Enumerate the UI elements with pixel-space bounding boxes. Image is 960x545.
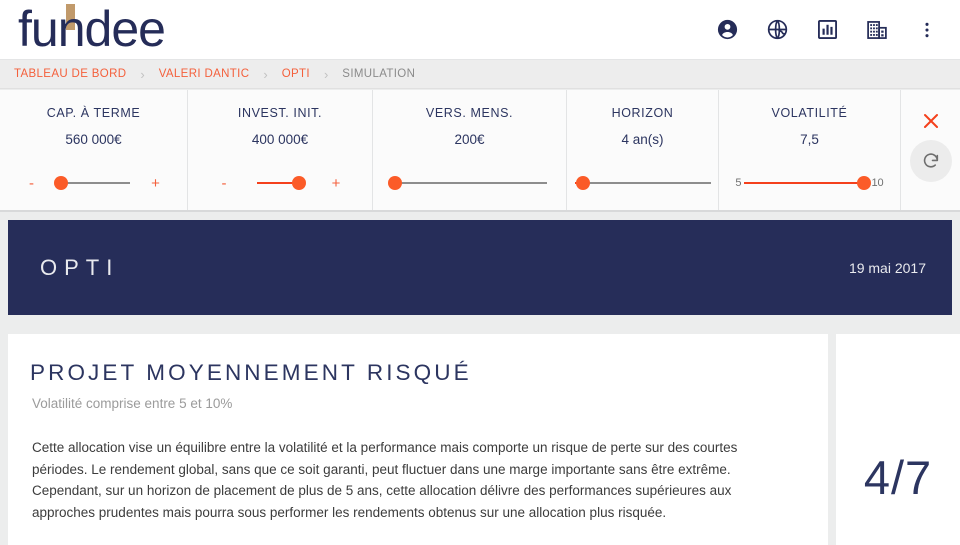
banner-title: OPTI — [40, 255, 119, 281]
page-title: PROJET MOYENNEMENT RISQUÉ — [30, 360, 798, 386]
breadcrumb-item-dashboard[interactable]: TABLEAU DE BORD — [14, 68, 126, 80]
slider-max-label: 10 — [868, 177, 886, 189]
close-icon[interactable] — [921, 111, 941, 136]
building-icon[interactable] — [852, 5, 902, 55]
slider-track — [575, 182, 711, 184]
more-vert-icon[interactable] — [902, 5, 952, 55]
increment-button[interactable]: + — [147, 176, 165, 191]
horizon-slider[interactable] — [575, 173, 711, 193]
param-label: INVEST. INIT. — [188, 106, 372, 120]
breadcrumb-item-simulation: SIMULATION — [342, 68, 415, 80]
breadcrumb-item-client[interactable]: VALERI DANTIC — [159, 68, 250, 80]
param-slider-row: - + — [0, 168, 187, 198]
cap-a-terme-slider[interactable] — [58, 173, 130, 193]
param-label: CAP. À TERME — [0, 106, 187, 120]
banner-date: 19 mai 2017 — [849, 260, 926, 276]
param-card-horizon: HORIZON 4 an(s) — [567, 90, 719, 210]
param-card-vers-mens: VERS. MENS. 200€ — [373, 90, 567, 210]
param-slider-row: - + — [188, 168, 372, 198]
decrement-button[interactable]: - — [23, 176, 41, 191]
slider-thumb[interactable] — [292, 176, 306, 190]
increment-button[interactable]: + — [327, 176, 345, 191]
parameter-actions — [901, 90, 960, 210]
param-slider-row — [373, 168, 566, 198]
param-value: 200€ — [373, 132, 566, 147]
logo-wordmark: fundee — [14, 0, 224, 60]
breadcrumb-separator: › — [263, 67, 267, 82]
breadcrumb-item-opti[interactable]: OPTI — [282, 68, 310, 80]
risk-score-value: 4/7 — [864, 450, 932, 505]
refresh-icon[interactable] — [910, 140, 952, 182]
svg-text:fundee: fundee — [18, 1, 165, 57]
slider-min-label: 5 — [732, 177, 744, 189]
parameter-strip: CAP. À TERME 560 000€ - + INVEST. INIT. … — [0, 90, 960, 212]
bar-chart-icon[interactable] — [802, 5, 852, 55]
param-value: 560 000€ — [0, 132, 187, 147]
param-label: HORIZON — [567, 106, 718, 120]
breadcrumb: TABLEAU DE BORD › VALERI DANTIC › OPTI ›… — [0, 60, 960, 89]
invest-init-slider[interactable] — [257, 173, 303, 193]
slider-thumb[interactable] — [388, 176, 402, 190]
volatilite-slider[interactable] — [744, 173, 868, 193]
slider-thumb[interactable] — [54, 176, 68, 190]
slider-track — [392, 182, 547, 184]
page-subtitle: Volatilité comprise entre 5 et 10% — [32, 396, 798, 411]
breadcrumb-separator: › — [140, 67, 144, 82]
slider-track-fill — [744, 182, 864, 184]
risk-score-card: 4/7 — [836, 334, 960, 545]
slider-thumb[interactable] — [576, 176, 590, 190]
risk-description: Cette allocation vise un équilibre entre… — [32, 437, 782, 523]
param-card-cap-a-terme: CAP. À TERME 560 000€ - + — [0, 90, 188, 210]
header-icon-group — [702, 0, 952, 59]
param-value: 400 000€ — [188, 132, 372, 147]
globe-icon[interactable] — [752, 5, 802, 55]
decrement-button[interactable]: - — [215, 176, 233, 191]
fundee-logo[interactable]: fundee — [14, 0, 224, 60]
project-banner: OPTI 19 mai 2017 — [8, 220, 952, 315]
param-card-volatilite: VOLATILITÉ 7,5 5 10 — [719, 90, 901, 210]
param-slider-row: 5 10 — [719, 168, 900, 198]
param-label: VERS. MENS. — [373, 106, 566, 120]
param-value: 7,5 — [719, 132, 900, 147]
param-label: VOLATILITÉ — [719, 106, 900, 120]
account-circle-icon[interactable] — [702, 5, 752, 55]
param-card-invest-init: INVEST. INIT. 400 000€ - + — [188, 90, 373, 210]
top-navigation-bar: fundee — [0, 0, 960, 60]
param-value: 4 an(s) — [567, 132, 718, 147]
slider-track — [58, 182, 130, 184]
param-slider-row — [567, 168, 718, 198]
breadcrumb-separator: › — [324, 67, 328, 82]
vers-mens-slider[interactable] — [392, 173, 547, 193]
risk-profile-card: PROJET MOYENNEMENT RISQUÉ Volatilité com… — [8, 334, 828, 545]
app-window: fundee — [0, 0, 960, 545]
